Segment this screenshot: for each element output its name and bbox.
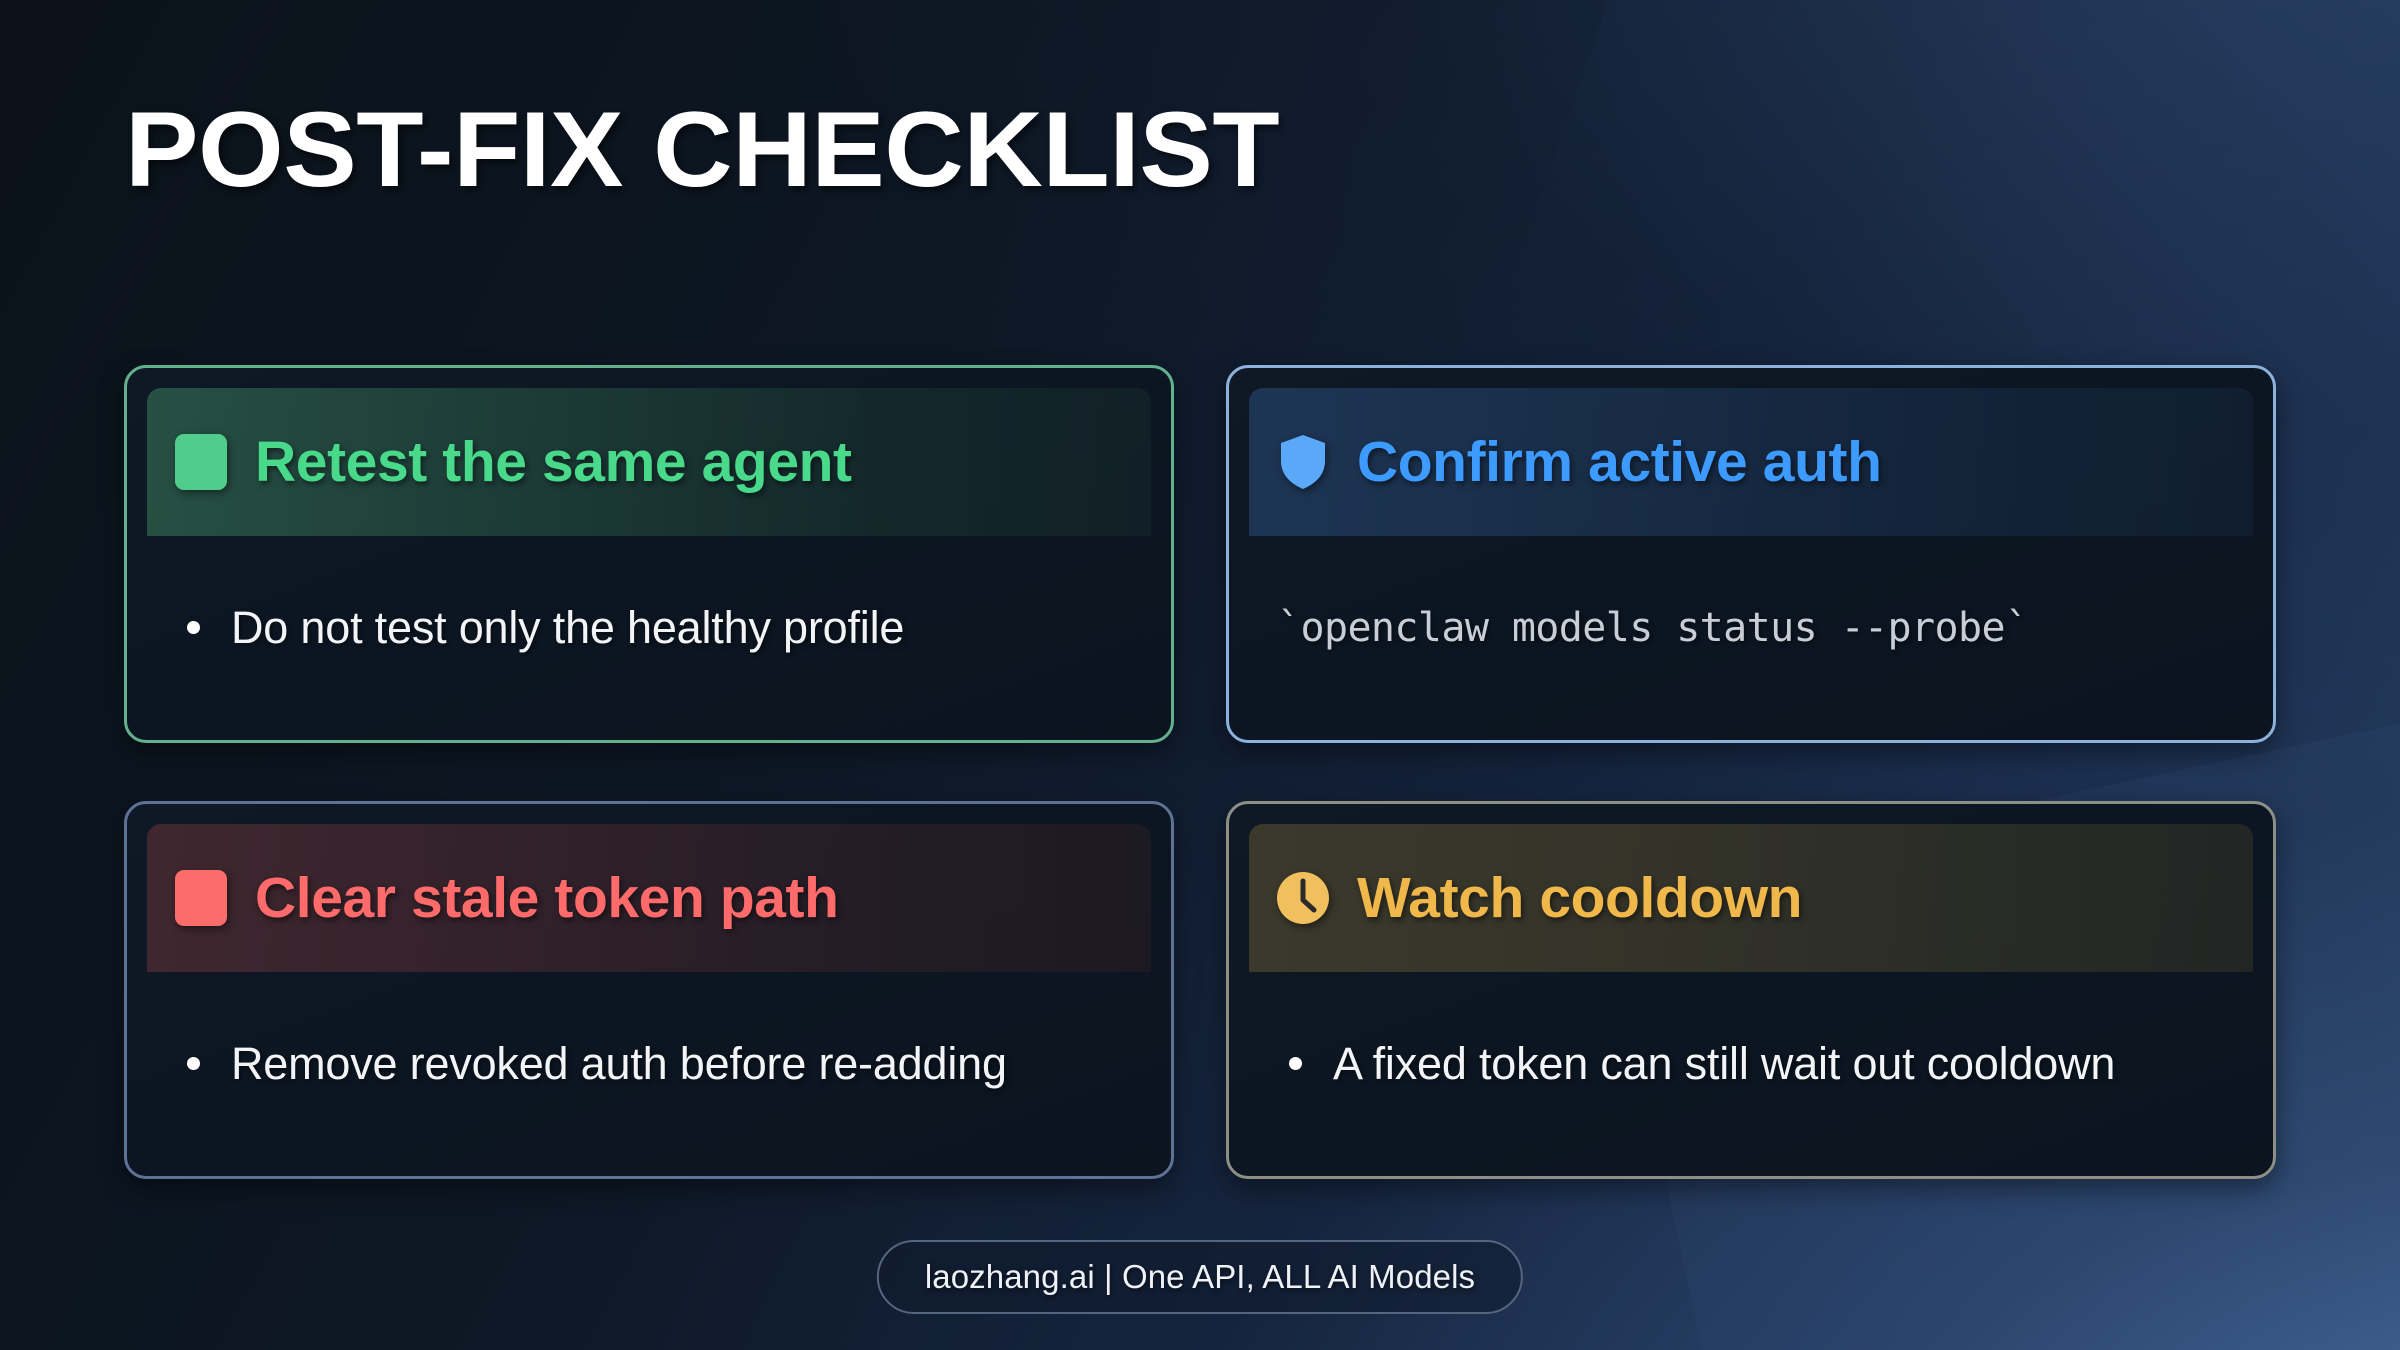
red-square-icon [173, 870, 229, 926]
card-title: Confirm active auth [1357, 429, 1882, 495]
shield-icon [1275, 434, 1331, 490]
checklist-grid: Retest the same agent Do not test only t… [124, 365, 2276, 1179]
card-watch-cooldown[interactable]: Watch cooldown A fixed token can still w… [1226, 801, 2276, 1179]
page-title: POST-FIX CHECKLIST [125, 96, 1279, 203]
list-item: Do not test only the healthy profile [169, 599, 1131, 657]
card-title: Clear stale token path [255, 865, 839, 931]
bullet-list: Do not test only the healthy profile [169, 599, 1131, 657]
card-header: Clear stale token path [147, 824, 1151, 972]
card-title: Retest the same agent [255, 429, 852, 495]
card-body: A fixed token can still wait out cooldow… [1249, 972, 2253, 1156]
card-body: Remove revoked auth before re-adding [147, 972, 1151, 1156]
card-body: `openclaw models status --probe` [1249, 536, 2253, 720]
footer-badge: laozhang.ai | One API, ALL AI Models [877, 1240, 1523, 1314]
card-header: Confirm active auth [1249, 388, 2253, 536]
clock-icon [1275, 870, 1331, 926]
bullet-list: Remove revoked auth before re-adding [169, 1035, 1131, 1093]
bullet-list: A fixed token can still wait out cooldow… [1271, 1035, 2233, 1093]
code-snippet: `openclaw models status --probe` [1271, 605, 2233, 651]
slide-root: POST-FIX CHECKLIST Retest the same agent… [0, 0, 2400, 1350]
card-confirm-active-auth[interactable]: Confirm active auth `openclaw models sta… [1226, 365, 2276, 743]
card-body: Do not test only the healthy profile [147, 536, 1151, 720]
card-header: Watch cooldown [1249, 824, 2253, 972]
card-clear-stale-token-path[interactable]: Clear stale token path Remove revoked au… [124, 801, 1174, 1179]
card-header: Retest the same agent [147, 388, 1151, 536]
card-title: Watch cooldown [1357, 865, 1802, 931]
green-square-icon [173, 434, 229, 490]
card-retest-same-agent[interactable]: Retest the same agent Do not test only t… [124, 365, 1174, 743]
list-item: Remove revoked auth before re-adding [169, 1035, 1131, 1093]
list-item: A fixed token can still wait out cooldow… [1271, 1035, 2233, 1093]
